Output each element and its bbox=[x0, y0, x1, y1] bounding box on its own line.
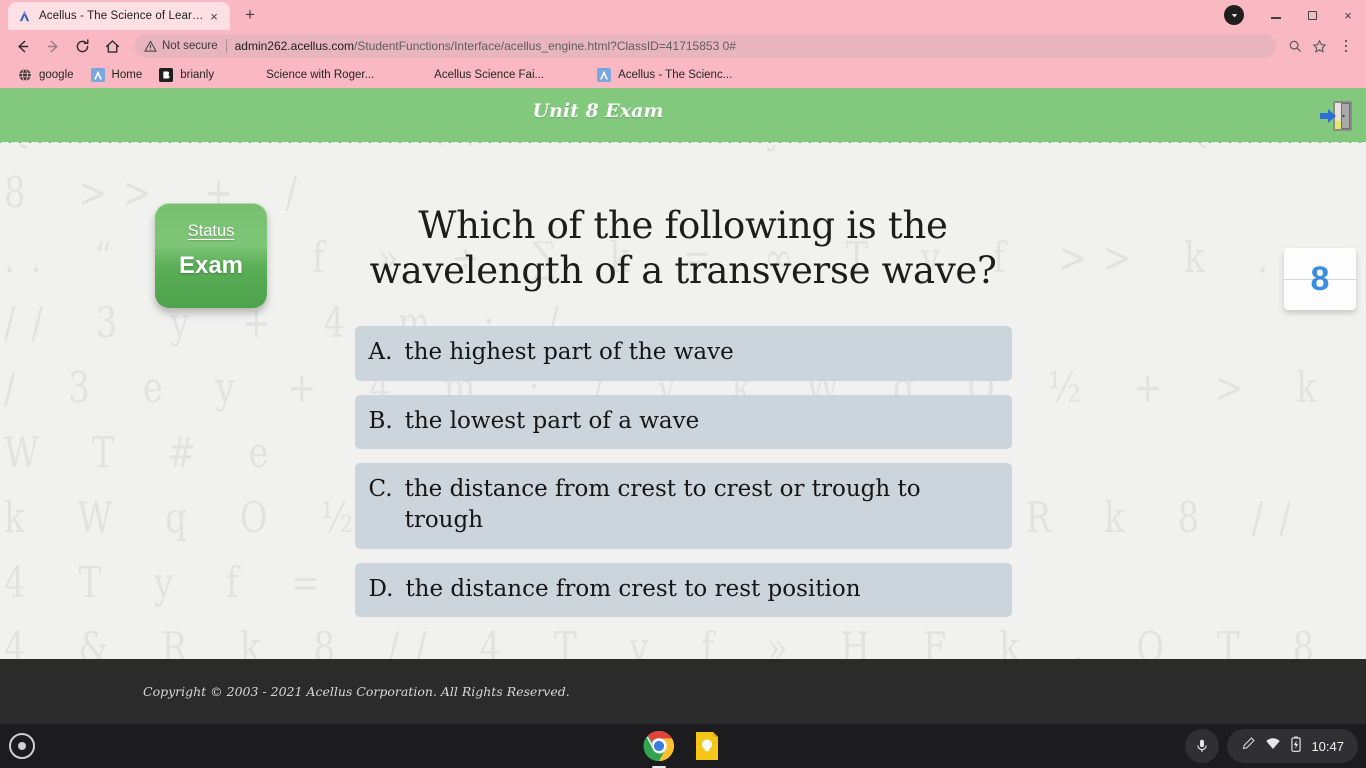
bookmark-label: google bbox=[39, 69, 74, 81]
option-letter: A. bbox=[369, 337, 393, 368]
bookmark-label: Acellus - The Scienc... bbox=[618, 69, 732, 81]
microphone-icon[interactable] bbox=[1185, 729, 1219, 763]
browser-toolbar: Not secure admin262.acellus.com/StudentF… bbox=[0, 30, 1366, 62]
bookmark-label: Home bbox=[112, 69, 143, 81]
launcher-circle-icon[interactable] bbox=[9, 733, 35, 759]
search-zoom-icon[interactable] bbox=[1284, 35, 1306, 57]
answer-option-a[interactable]: A. the highest part of the wave bbox=[355, 326, 1012, 381]
back-arrow-icon[interactable] bbox=[8, 32, 36, 60]
system-tray: 10:47 bbox=[1185, 729, 1358, 763]
address-bar[interactable]: Not secure admin262.acellus.com/StudentF… bbox=[134, 34, 1276, 58]
answer-option-d[interactable]: D. the distance from crest to rest posit… bbox=[355, 563, 1012, 618]
stylus-pen-icon[interactable] bbox=[1241, 736, 1256, 756]
url-host: admin262.acellus.com bbox=[235, 39, 354, 53]
option-letter: B. bbox=[369, 406, 393, 437]
forward-arrow-icon[interactable] bbox=[38, 32, 66, 60]
tab-title: Acellus - The Science of Learning bbox=[39, 10, 206, 22]
copyright-text: Copyright © 2003 - 2021 Acellus Corporat… bbox=[143, 684, 570, 699]
browser-tab[interactable]: Acellus - The Science of Learning × bbox=[8, 2, 230, 30]
exam-header-bar: Unit 8 Exam bbox=[0, 88, 1366, 143]
tab-strip: Acellus - The Science of Learning × + × bbox=[0, 0, 1366, 30]
status-card-label: Status bbox=[188, 222, 235, 241]
download-indicator-icon[interactable] bbox=[1224, 5, 1244, 25]
clock: 10:47 bbox=[1311, 739, 1344, 754]
wifi-icon[interactable] bbox=[1265, 736, 1281, 757]
option-letter: D. bbox=[369, 574, 394, 605]
globe-icon bbox=[17, 67, 33, 83]
acellus-exam-page: Q T 8 >> + // ~ P T y f = k >> Q T 8 >> … bbox=[0, 88, 1366, 724]
shelf-app-list bbox=[643, 730, 723, 762]
maximize-button[interactable] bbox=[1294, 0, 1330, 30]
answer-option-b[interactable]: B. the lowest part of a wave bbox=[355, 395, 1012, 450]
window-controls: × bbox=[1224, 0, 1366, 30]
exit-door-icon[interactable] bbox=[1314, 94, 1358, 138]
reload-icon[interactable] bbox=[68, 32, 96, 60]
status-card-value: Exam bbox=[179, 252, 243, 280]
bookmark-brainly[interactable]: brianly bbox=[151, 64, 221, 86]
home-icon[interactable] bbox=[98, 32, 126, 60]
kebab-menu-icon[interactable] bbox=[1334, 32, 1358, 60]
answer-options: A. the highest part of the wave B. the l… bbox=[355, 326, 1012, 617]
question-text: Which of the following is the wavelength… bbox=[338, 203, 1028, 293]
bookmark-science-with-roger[interactable]: Science with Roger... bbox=[259, 64, 381, 86]
page-title: Unit 8 Exam bbox=[0, 100, 1366, 122]
new-tab-button[interactable]: + bbox=[236, 1, 264, 29]
option-text: the highest part of the wave bbox=[404, 337, 733, 368]
bookmark-acellus-science[interactable]: Acellus - The Scienc... bbox=[589, 64, 739, 86]
option-text: the lowest part of a wave bbox=[405, 406, 700, 437]
bookmark-label: brianly bbox=[180, 69, 214, 81]
close-icon[interactable]: × bbox=[206, 8, 222, 24]
star-icon[interactable] bbox=[1308, 35, 1330, 57]
warning-triangle-icon bbox=[144, 40, 157, 53]
question-counter-value: 8 bbox=[1311, 262, 1330, 296]
omnibox-divider bbox=[226, 39, 227, 53]
close-window-button[interactable]: × bbox=[1330, 0, 1366, 30]
scalloped-edge bbox=[0, 142, 1366, 149]
omnibox-actions bbox=[1284, 32, 1358, 60]
status-card[interactable]: Status Exam bbox=[155, 203, 267, 308]
security-status-label: Not secure bbox=[162, 40, 218, 52]
option-text: the distance from crest to crest or trou… bbox=[405, 474, 998, 535]
chrome-icon[interactable] bbox=[643, 730, 675, 762]
bookmark-home[interactable]: Home bbox=[83, 64, 150, 86]
acellus-logo-icon bbox=[596, 67, 612, 83]
acellus-logo-icon bbox=[16, 8, 32, 24]
minimize-button[interactable] bbox=[1258, 0, 1294, 30]
option-letter: C. bbox=[369, 474, 393, 505]
url-path: /StudentFunctions/Interface/acellus_engi… bbox=[354, 39, 736, 53]
bookmark-label: Science with Roger... bbox=[266, 69, 374, 81]
acellus-logo-icon bbox=[90, 67, 106, 83]
option-text: the distance from crest to rest position bbox=[405, 574, 860, 605]
answer-option-c[interactable]: C. the distance from crest to crest or t… bbox=[355, 463, 1012, 548]
bookmark-label: Acellus Science Fai... bbox=[434, 69, 544, 81]
bookmark-google[interactable]: google bbox=[10, 64, 81, 86]
browser-window: Acellus - The Science of Learning × + × bbox=[0, 0, 1366, 724]
question-counter[interactable]: 8 bbox=[1284, 248, 1356, 310]
bookmarks-bar: google Home brianly Science with Roger..… bbox=[0, 62, 1366, 88]
os-shelf: 10:47 bbox=[0, 724, 1366, 768]
status-tray-pill[interactable]: 10:47 bbox=[1227, 729, 1358, 763]
battery-charging-icon[interactable] bbox=[1290, 736, 1302, 757]
url-text: admin262.acellus.com/StudentFunctions/In… bbox=[235, 39, 736, 53]
google-keep-icon[interactable] bbox=[691, 730, 723, 762]
bookmark-acellus-science-fair[interactable]: Acellus Science Fai... bbox=[427, 64, 551, 86]
brainly-icon bbox=[158, 67, 174, 83]
page-footer: Copyright © 2003 - 2021 Acellus Corporat… bbox=[0, 659, 1366, 724]
